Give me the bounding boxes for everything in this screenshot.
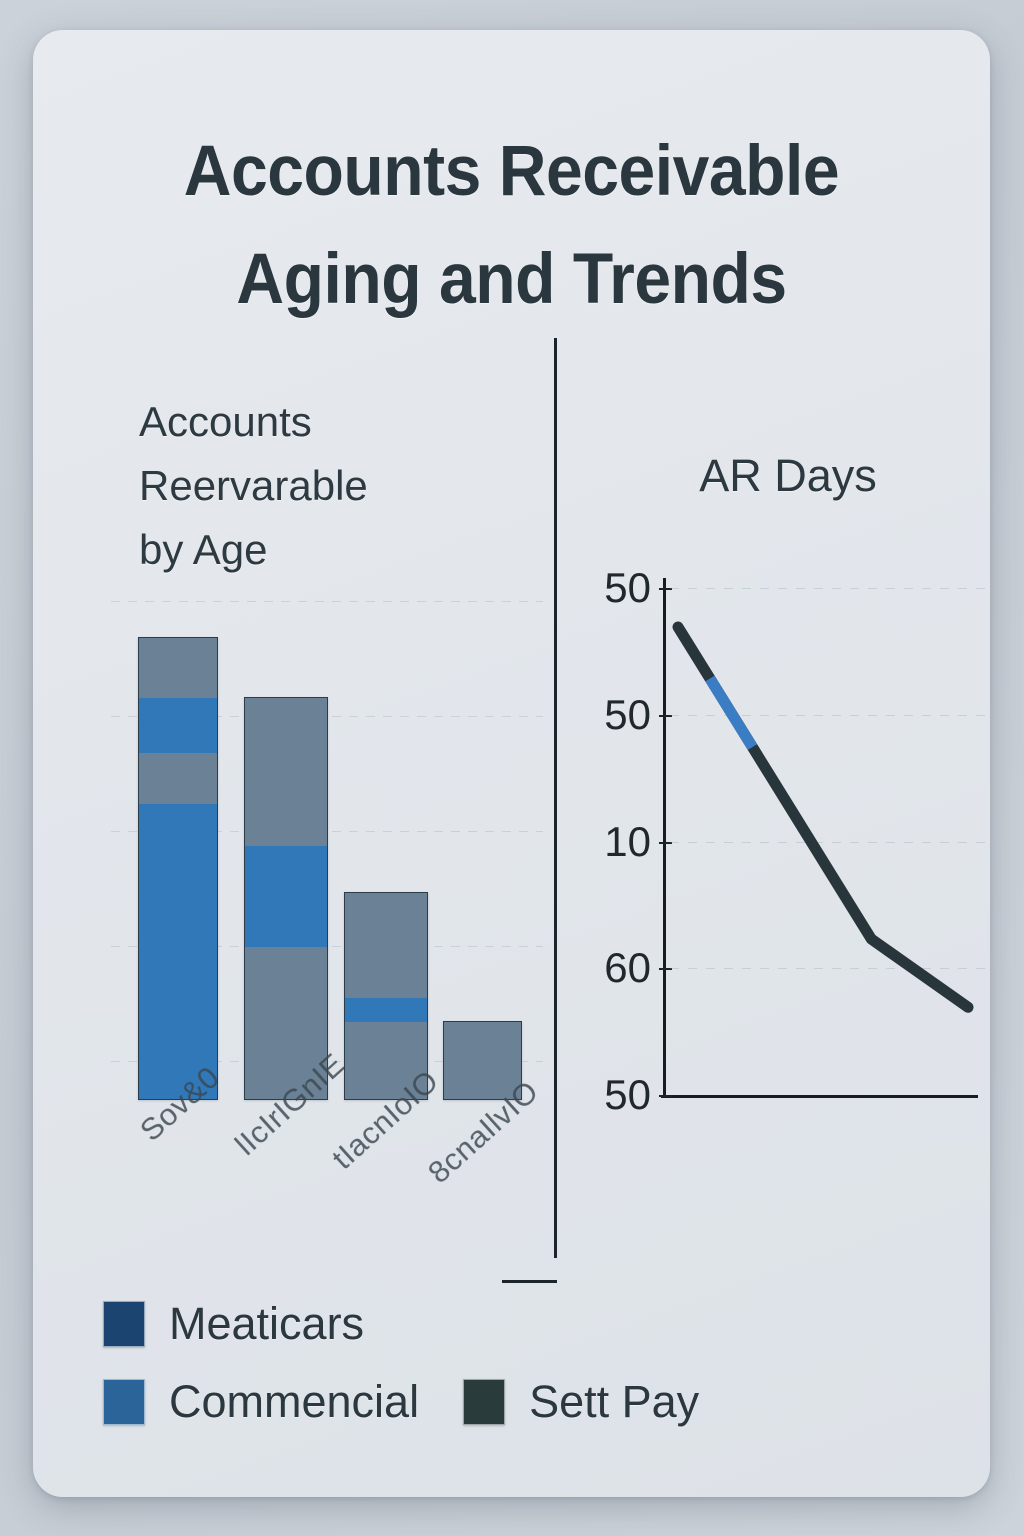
page-title: Accounts Receivable Aging and Trends bbox=[66, 118, 956, 334]
legend-label: Meaticars bbox=[169, 1298, 364, 1350]
bar-segment bbox=[139, 804, 217, 1099]
bar-column[interactable] bbox=[244, 697, 328, 1100]
bar-segment bbox=[139, 753, 217, 804]
bar-segment bbox=[345, 893, 427, 998]
legend-item-commercial[interactable]: Commencial bbox=[103, 1376, 419, 1428]
trend-line-path bbox=[678, 627, 968, 1007]
bar-chart-x-axis-labels: Sov&0lIcIrIGnIEtIacnIoIO8cnaIlvIO bbox=[103, 1112, 543, 1262]
bar-segment bbox=[245, 698, 327, 845]
page-background: Accounts Receivable Aging and Trends Acc… bbox=[0, 0, 1024, 1536]
bar-chart-title: Accounts Reervarable by Age bbox=[139, 390, 469, 581]
legend-label: Sett Pay bbox=[529, 1376, 699, 1428]
report-card: Accounts Receivable Aging and Trends Acc… bbox=[33, 30, 990, 1497]
legend-swatch-icon bbox=[463, 1379, 505, 1425]
legend-swatch-icon bbox=[103, 1379, 145, 1425]
line-chart-plot-area: 5050106050 bbox=[578, 360, 990, 1150]
chart-legend: Meaticars Commencial Sett Pay bbox=[103, 1285, 903, 1441]
legend-item-self-pay[interactable]: Sett Pay bbox=[463, 1376, 699, 1428]
bar-chart-plot-area bbox=[103, 600, 533, 1100]
bar-segment bbox=[139, 638, 217, 698]
trend-line-highlight-segment bbox=[710, 679, 753, 748]
legend-swatch-icon bbox=[103, 1301, 145, 1347]
bar-segment bbox=[345, 998, 427, 1022]
legend-row-2: Commencial Sett Pay bbox=[103, 1363, 903, 1441]
bar-segment bbox=[139, 698, 217, 753]
bar-segment bbox=[245, 846, 327, 947]
line-chart-panel: AR Days 5050106050 bbox=[578, 360, 990, 1150]
legend-label: Commencial bbox=[169, 1376, 419, 1428]
bar-chart-panel: Accounts Reervarable by Age Sov&0lIcIrIG… bbox=[103, 360, 533, 1290]
bar-gridline bbox=[111, 601, 543, 602]
bar-column[interactable] bbox=[138, 637, 218, 1100]
divider-vertical-line bbox=[554, 338, 557, 1258]
legend-row-1: Meaticars bbox=[103, 1285, 903, 1363]
legend-item-medicare[interactable]: Meaticars bbox=[103, 1298, 364, 1350]
ar-days-trend-line bbox=[578, 360, 990, 1150]
